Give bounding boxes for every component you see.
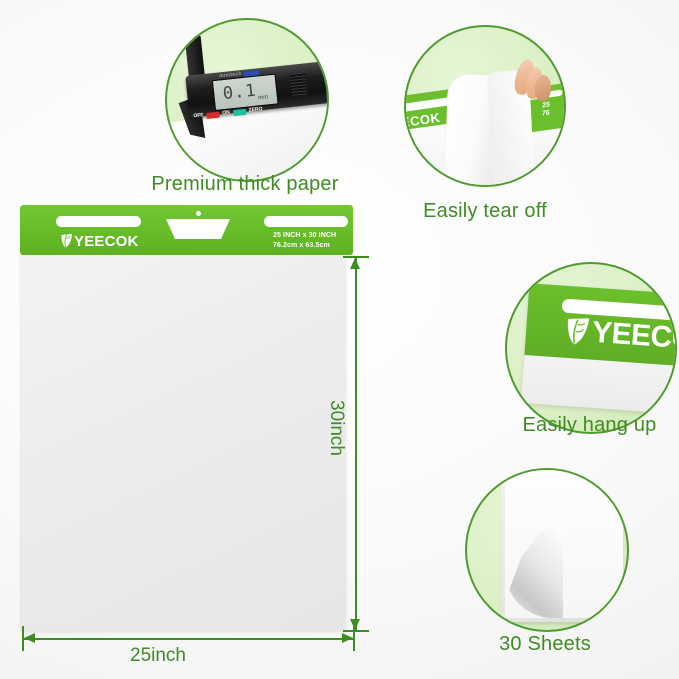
main-product-easel-pad: YEECOK 25 INCH x 30 INCH 76.2cm x 63.5cm — [20, 205, 353, 633]
caliper-zero-label: ZERO — [248, 107, 262, 113]
hang-brand-logo: YEECOK — [563, 316, 677, 357]
pad-hanging-slot-left — [56, 216, 141, 227]
width-right-cap — [353, 626, 355, 651]
caliper-off-label: OFF — [193, 113, 203, 119]
pad-center-hole — [196, 211, 201, 216]
caliper-vent-grill — [290, 72, 308, 96]
hang-green-band: YEECOK — [524, 283, 677, 369]
hand-icon — [510, 57, 554, 109]
caliper-zero-switch[interactable] — [233, 108, 247, 115]
pad-brand-logo: YEECOK — [60, 233, 139, 249]
pad-size-label: 25 INCH x 30 INCH 76.2cm x 63.5cm — [273, 231, 336, 251]
height-label: 30inch — [325, 400, 347, 456]
feature-circle-premium-thick-paper: minitech 0.1 mm OFF ON ZERO — [165, 18, 329, 182]
caption-premium-thick-paper: Premium thick paper — [125, 173, 365, 196]
caliper-off-switch[interactable] — [206, 111, 220, 118]
pad-brand-text: YEECOK — [74, 234, 139, 249]
product-infographic: minitech 0.1 mm OFF ON ZERO Premium thic… — [0, 0, 679, 679]
pad-green-header: YEECOK 25 INCH x 30 INCH 76.2cm x 63.5cm — [20, 205, 353, 255]
caliper-lcd-value: 0.1 — [222, 83, 257, 103]
feature-circle-easily-tear-off: EECOK 25 76 — [404, 25, 566, 187]
leaf-icon — [563, 316, 591, 348]
pad-hanging-slot-right — [264, 216, 348, 227]
hang-easel-pad: YEECOK — [521, 283, 677, 417]
width-arrow-left — [24, 633, 35, 643]
pad-paper-sheet — [20, 253, 345, 631]
tear-size-line2: 76 — [542, 110, 550, 118]
hang-brand-text: YEECOK — [591, 318, 677, 357]
leaf-icon — [60, 233, 73, 249]
pad-center-notch — [166, 219, 230, 239]
width-label: 25inch — [130, 645, 186, 667]
pad-size-centimeters: 76.2cm x 63.5cm — [273, 241, 336, 251]
caption-easily-hang-up: Easily hang up — [492, 414, 679, 437]
feature-circle-easily-hang-up: YEECOK — [505, 262, 677, 434]
height-dimension-line — [355, 256, 357, 632]
width-arrow-right — [342, 633, 353, 643]
finger-middle — [534, 74, 552, 101]
caliper-body: minitech 0.1 mm OFF ON ZERO — [185, 60, 329, 117]
height-arrow-down — [350, 619, 360, 630]
height-bottom-cap — [343, 630, 369, 632]
pad-size-inches: 25 INCH x 30 INCH — [273, 231, 336, 241]
feature-circle-thirty-sheets — [465, 468, 629, 632]
caliper-lcd-unit: mm — [258, 94, 269, 101]
caption-thirty-sheets: 30 Sheets — [465, 633, 625, 656]
caption-easily-tear-off: Easily tear off — [390, 200, 580, 223]
height-arrow-up — [350, 258, 360, 269]
caliper-on-label: ON — [222, 111, 230, 117]
width-dimension-line — [22, 638, 355, 640]
